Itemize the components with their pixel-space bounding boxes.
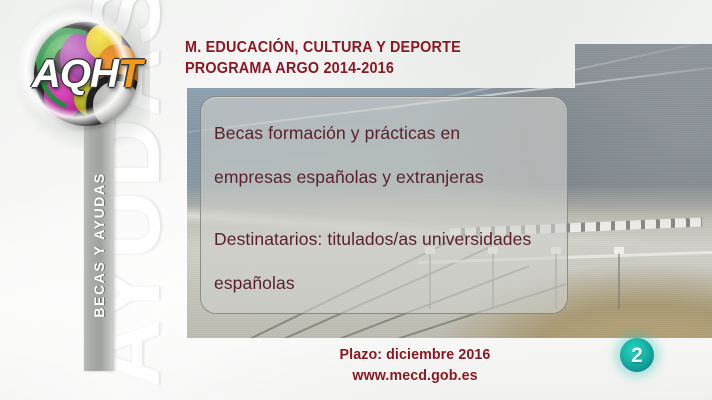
logo-wordmark-accent: T [118, 52, 141, 96]
section-tab-label: BECAS Y AYUDAS [91, 172, 107, 317]
slide-heading: M. EDUCACIÓN, CULTURA Y DEPORTE PROGRAMA… [185, 37, 461, 79]
card-line-1: Becas formación y prácticas en [214, 113, 553, 153]
logo-wordmark-main: AQH [32, 52, 118, 96]
content-card: Becas formación y prácticas en empresas … [200, 96, 568, 314]
catenary-mast [618, 251, 620, 309]
website-text: www.mecd.gob.es [258, 365, 572, 386]
channel-bug-number: 2 [620, 338, 654, 372]
card-line-2: empresas españolas y extranjeras [214, 157, 553, 197]
program-logo: AQHT [22, 18, 174, 128]
card-line-4: españolas [214, 263, 553, 303]
card-line-3: Destinatarios: titulados/as universidade… [214, 219, 553, 259]
heading-line-2: PROGRAMA ARGO 2014-2016 [185, 58, 461, 79]
deadline-text: Plazo: diciembre 2016 [258, 344, 572, 365]
card-line-spacer [214, 201, 553, 215]
channel-bug: 2 [620, 338, 654, 372]
slide-footer: Plazo: diciembre 2016 www.mecd.gob.es [258, 344, 572, 386]
logo-wordmark: AQHT [32, 54, 174, 94]
heading-line-1: M. EDUCACIÓN, CULTURA Y DEPORTE [185, 37, 461, 58]
broadcast-slide: AYUDAS M. EDUCACIÓN, CULTURA Y DEPORTE P… [0, 0, 712, 400]
section-tab: BECAS Y AYUDAS [84, 118, 114, 371]
